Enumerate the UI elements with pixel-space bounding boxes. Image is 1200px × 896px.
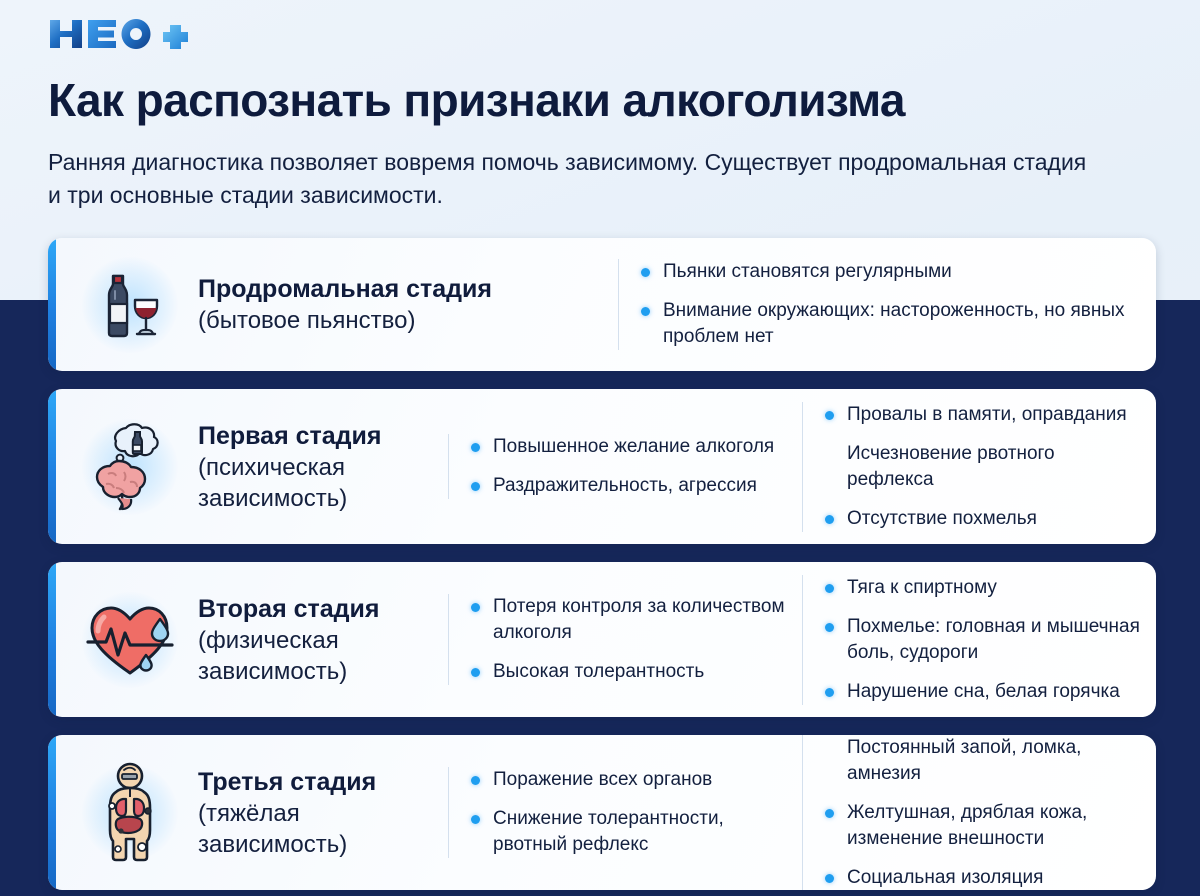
stage-card-second[interactable]: Вторая стадия (физическая зависимость) П…	[48, 562, 1156, 717]
stage-card-first[interactable]: Первая стадия (психическая зависимость) …	[48, 389, 1156, 544]
list-item: Потеря контроля за количеством алкоголя	[471, 594, 788, 646]
stage-heading-block: Третья стадия (тяжёлая зависимость)	[48, 735, 448, 890]
symptom-list: Поражение всех органов Снижение толерант…	[471, 767, 788, 858]
stage-text: Первая стадия (психическая зависимость)	[184, 420, 448, 514]
symptom-columns: Потеря контроля за количеством алкоголя …	[448, 562, 1156, 717]
list-item: Снижение толерантности, рвотный рефлекс	[471, 806, 788, 858]
brain-with-alcohol-thought-icon	[76, 413, 184, 521]
list-item-continuation: Исчезновение рвотного рефлекса	[825, 441, 1142, 493]
human-body-organs-icon	[76, 759, 184, 867]
list-item: Раздражительность, агрессия	[471, 473, 788, 499]
stage-text: Продромальная стадия (бытовое пьянство)	[184, 273, 492, 336]
neo-plus-logo-icon	[48, 14, 198, 54]
stage-subtitle: (физическая зависимость)	[198, 625, 448, 687]
stage-subtitle: (тяжёлая зависимость)	[198, 798, 448, 860]
symptom-list: Тяга к спиртному Похмелье: головная и мы…	[825, 575, 1142, 705]
list-item: Отсутствие похмелья	[825, 506, 1142, 532]
list-item: Социальная изоляция	[825, 865, 1142, 891]
symptom-column: Поражение всех органов Снижение толерант…	[448, 767, 802, 858]
stage-text: Вторая стадия (физическая зависимость)	[184, 593, 448, 687]
stage-card-prodromal[interactable]: Продромальная стадия (бытовое пьянство) …	[48, 238, 1156, 371]
stage-heading-block: Первая стадия (психическая зависимость)	[48, 389, 448, 544]
infographic-page: Как распознать признаки алкоголизма Ранн…	[0, 0, 1200, 896]
stage-name: Продромальная стадия	[198, 273, 492, 305]
wine-bottle-and-glass-icon	[76, 251, 184, 359]
symptom-columns: Пьянки становятся регулярными Внимание о…	[618, 238, 1156, 371]
list-item: Нарушение сна, белая горячка	[825, 679, 1142, 705]
stage-name: Вторая стадия	[198, 593, 448, 625]
stage-subtitle: (психическая зависимость)	[198, 452, 448, 514]
symptom-column: Постоянный запой, ломка, амнезия Желтушн…	[802, 735, 1156, 890]
symptom-columns: Повышенное желание алкоголя Раздражитель…	[448, 389, 1156, 544]
list-item: Желтушная, дряблая кожа, изменение внешн…	[825, 800, 1142, 852]
symptom-column: Повышенное желание алкоголя Раздражитель…	[448, 434, 802, 499]
stage-card-third[interactable]: Третья стадия (тяжёлая зависимость) Пора…	[48, 735, 1156, 890]
list-item: Провалы в памяти, оправдания	[825, 402, 1142, 428]
stage-heading-block: Вторая стадия (физическая зависимость)	[48, 562, 448, 717]
symptom-list: Потеря контроля за количеством алкоголя …	[471, 594, 788, 685]
list-item: Похмелье: головная и мышечная боль, судо…	[825, 614, 1142, 666]
stage-heading-block: Продромальная стадия (бытовое пьянство)	[48, 238, 618, 371]
stage-card-list: Продромальная стадия (бытовое пьянство) …	[48, 238, 1156, 896]
list-item: Тяга к спиртному	[825, 575, 1142, 601]
list-item: Повышенное желание алкоголя	[471, 434, 788, 460]
page-subtitle: Ранняя диагностика позволяет вовремя пом…	[48, 146, 1088, 212]
symptom-column: Потеря контроля за количеством алкоголя …	[448, 594, 802, 685]
page-title: Как распознать признаки алкоголизма	[48, 72, 1158, 128]
brand-logo	[48, 14, 198, 54]
list-item: Высокая толерантность	[471, 659, 788, 685]
symptom-list: Пьянки становятся регулярными Внимание о…	[641, 259, 1142, 350]
symptom-list: Постоянный запой, ломка, амнезия Желтушн…	[825, 735, 1142, 890]
symptom-list: Провалы в памяти, оправдания Исчезновени…	[825, 402, 1142, 532]
symptom-column: Пьянки становятся регулярными Внимание о…	[618, 259, 1156, 350]
symptom-column: Провалы в памяти, оправдания Исчезновени…	[802, 402, 1156, 532]
list-item: Пьянки становятся регулярными	[641, 259, 1142, 285]
stage-text: Третья стадия (тяжёлая зависимость)	[184, 766, 448, 860]
stage-name: Первая стадия	[198, 420, 448, 452]
symptom-list: Повышенное желание алкоголя Раздражитель…	[471, 434, 788, 499]
stage-name: Третья стадия	[198, 766, 448, 798]
list-item-continuation: Постоянный запой, ломка, амнезия	[825, 735, 1142, 787]
symptom-columns: Поражение всех органов Снижение толерант…	[448, 735, 1156, 890]
list-item: Внимание окружающих: настороженность, но…	[641, 298, 1142, 350]
symptom-column: Тяга к спиртному Похмелье: головная и мы…	[802, 575, 1156, 705]
heart-with-pulse-and-drops-icon	[76, 586, 184, 694]
list-item: Поражение всех органов	[471, 767, 788, 793]
stage-subtitle: (бытовое пьянство)	[198, 305, 492, 336]
